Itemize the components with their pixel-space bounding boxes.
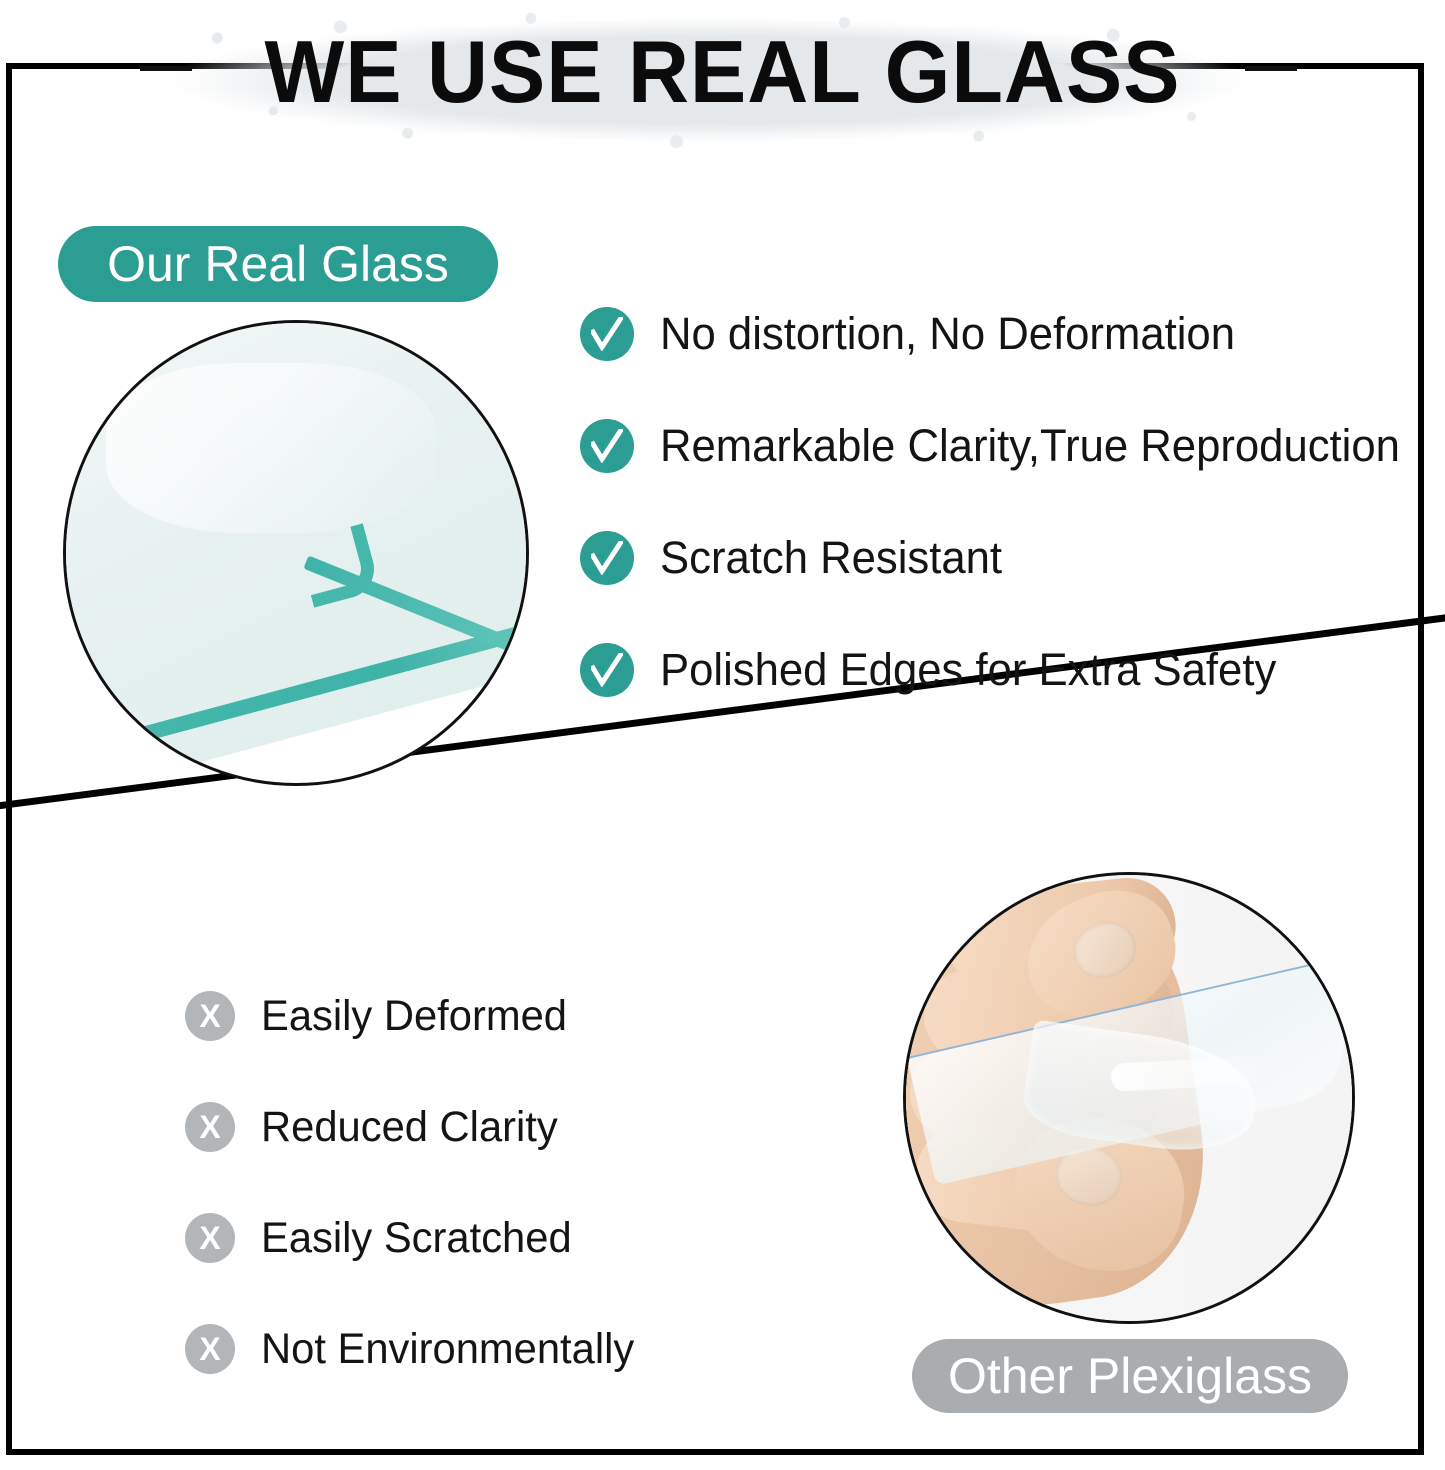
plexiglass-photo <box>903 872 1355 1324</box>
x-icon: X <box>185 1324 235 1374</box>
cons-item-label: Easily Deformed <box>261 992 567 1040</box>
pros-list: No distortion, No Deformation Remarkable… <box>580 278 1430 726</box>
check-icon <box>580 531 634 585</box>
glass-surface-highlight <box>106 363 436 533</box>
list-item: Scratch Resistant <box>580 502 1430 614</box>
cons-list: X Easily Deformed X Reduced Clarity X Ea… <box>185 960 805 1404</box>
badge-other-plexiglass-label: Other Plexiglass <box>948 1351 1312 1401</box>
list-item: X Easily Scratched <box>185 1182 805 1293</box>
cons-item-label: Reduced Clarity <box>261 1103 558 1151</box>
list-item: Remarkable Clarity,True Reproduction <box>580 390 1430 502</box>
comparison-infographic: WE USE REAL GLASS Our Real Glass No dist… <box>0 0 1445 1470</box>
pros-item-label: Polished Edges for Extra Safety <box>660 645 1276 695</box>
pros-item-label: Scratch Resistant <box>660 533 1002 583</box>
x-icon: X <box>185 1102 235 1152</box>
hand-bending-plexiglass-illustration <box>906 875 1352 1321</box>
pros-item-label: Remarkable Clarity,True Reproduction <box>660 421 1400 471</box>
real-glass-photo <box>63 320 529 786</box>
badge-our-real-glass: Our Real Glass <box>58 226 498 302</box>
check-icon <box>580 307 634 361</box>
check-icon <box>580 643 634 697</box>
list-item: X Easily Deformed <box>185 960 805 1071</box>
badge-other-plexiglass: Other Plexiglass <box>912 1339 1348 1413</box>
glass-corner-illustration <box>66 323 526 783</box>
pros-item-label: No distortion, No Deformation <box>660 309 1235 359</box>
list-item: X Not Environmentally <box>185 1293 805 1404</box>
list-item: No distortion, No Deformation <box>580 278 1430 390</box>
x-icon: X <box>185 991 235 1041</box>
cons-item-label: Not Environmentally <box>261 1325 634 1373</box>
check-icon <box>580 419 634 473</box>
list-item: Polished Edges for Extra Safety <box>580 614 1430 726</box>
badge-our-real-glass-label: Our Real Glass <box>107 239 449 289</box>
page-title: WE USE REAL GLASS <box>29 24 1416 120</box>
x-icon: X <box>185 1213 235 1263</box>
cons-item-label: Easily Scratched <box>261 1214 572 1262</box>
list-item: X Reduced Clarity <box>185 1071 805 1182</box>
